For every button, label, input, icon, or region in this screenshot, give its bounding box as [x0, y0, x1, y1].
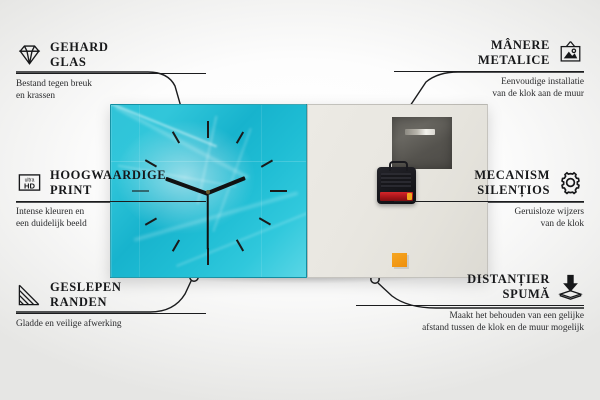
feature-gehard-glas: GEHARD GLAS Bestand tegen breuk en krass… — [16, 40, 206, 102]
beveled-edge-icon — [16, 281, 43, 308]
feature-geslepen-randen: GESLEPEN RANDEN Gladde en veilige afwerk… — [16, 280, 206, 330]
divider — [394, 201, 584, 202]
feature-hoogwaardige-print: ultra HD HOOGWAARDIGE PRINT Intense kleu… — [16, 168, 206, 230]
feature-title: GEHARD GLAS — [50, 40, 108, 70]
feature-description: Gladde en veilige afwerking — [16, 318, 206, 330]
feature-title: GESLEPEN RANDEN — [50, 280, 122, 310]
diamond-icon — [16, 41, 43, 68]
feature-description: Bestand tegen breuk en krassen — [16, 78, 206, 103]
feature-title: HOOGWAARDIGE PRINT — [50, 168, 166, 198]
feature-title: MÂNERE METALICE — [478, 38, 550, 68]
divider — [16, 73, 206, 74]
feature-title: DISTANȚIER SPUMĂ — [467, 272, 550, 302]
divider — [16, 313, 206, 314]
feature-mecanism-silentios: MECANISM SILENȚIOS Geruisloze wijzers va… — [394, 168, 584, 230]
feature-description: Intense kleuren en een duidelijk beeld — [16, 206, 206, 231]
svg-text:HD: HD — [24, 182, 35, 191]
orange-foam-spacer — [392, 253, 407, 267]
second-hand — [207, 193, 209, 249]
divider — [356, 305, 584, 306]
feature-description: Maakt het behouden van een gelijke afsta… — [356, 310, 584, 335]
ultra-hd-icon: ultra HD — [16, 169, 43, 196]
gear-icon — [557, 169, 584, 196]
feature-description: Geruisloze wijzers van de klok — [394, 206, 584, 231]
feature-title: MECANISM SILENȚIOS — [474, 168, 550, 198]
picture-frame-icon — [557, 39, 584, 66]
divider — [16, 201, 206, 202]
divider — [394, 71, 584, 72]
feature-distantier-spuma: DISTANȚIER SPUMĂ Maakt het behouden van … — [356, 272, 584, 334]
product-feature-infographic: GEHARD GLAS Bestand tegen breuk en krass… — [0, 0, 600, 400]
feature-description: Eenvoudige installatie van de klok aan d… — [394, 76, 584, 101]
feature-manere-metalice: MÂNERE METALICE Eenvoudige installatie v… — [394, 38, 584, 100]
spacer-down-arrow-icon — [557, 273, 584, 300]
